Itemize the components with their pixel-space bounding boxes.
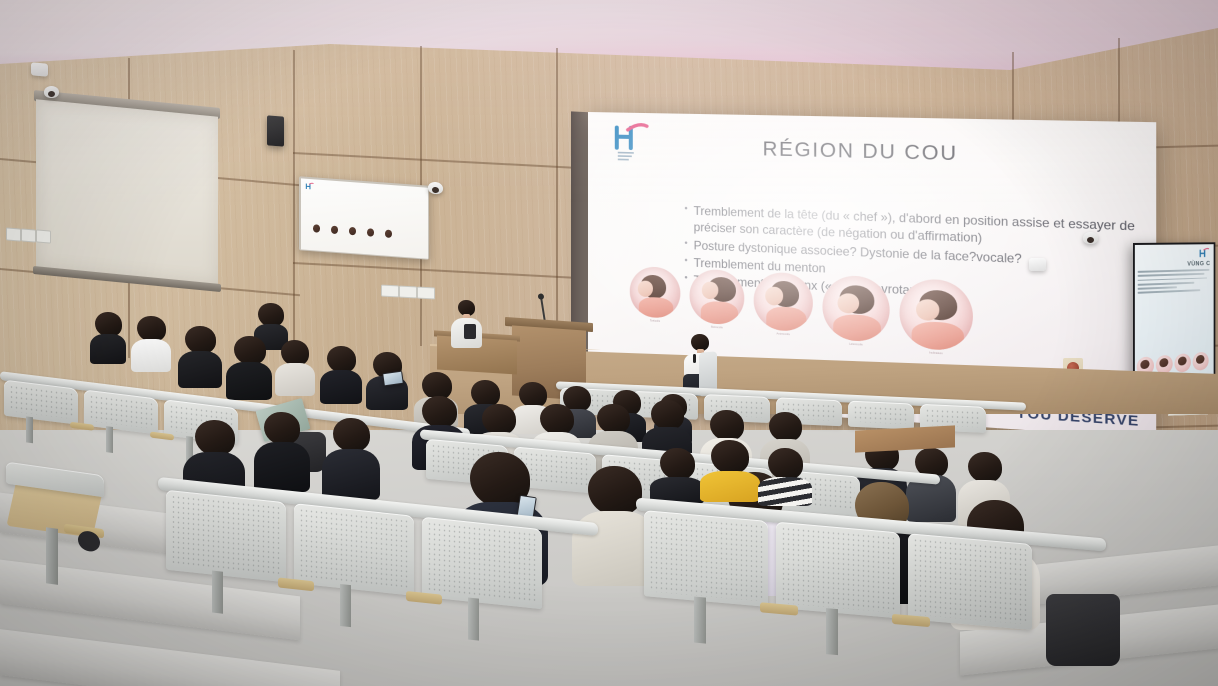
figure-image	[690, 269, 745, 326]
slide-figure: Laterocolis	[822, 274, 889, 348]
audience-member	[178, 326, 222, 388]
slide-figure: Anterocolis	[754, 271, 813, 337]
wall-monitor	[299, 176, 429, 260]
wall-seam	[293, 50, 295, 380]
power-outlet-icon	[417, 287, 435, 300]
lecture-hall-photo: RÉGION DU COU Tremblement de la tête (du…	[0, 0, 1218, 686]
figure-thumb	[366, 228, 375, 241]
cctv-camera-icon	[44, 86, 59, 98]
figure-thumb	[1156, 355, 1173, 375]
audience-member	[275, 340, 315, 396]
figure-thumb	[330, 225, 339, 238]
empty-seat[interactable]	[6, 462, 126, 599]
wall-sensor-icon	[1029, 258, 1046, 271]
audience-member	[700, 440, 760, 502]
audience-member	[322, 418, 380, 500]
cctv-camera-icon	[31, 62, 48, 76]
power-outlet-icon	[21, 228, 36, 242]
audience-member	[226, 336, 272, 400]
figure-thumb	[384, 229, 393, 242]
audience-member	[90, 312, 126, 364]
power-outlet-icon	[6, 227, 21, 241]
side-monitor-title: VÙNG C	[1187, 260, 1210, 267]
smartphone[interactable]	[382, 371, 404, 387]
wall-monitor-figures	[312, 224, 393, 242]
audience-member	[650, 448, 704, 504]
slide-title: RÉGION DU COU	[588, 134, 1156, 172]
power-outlet-icon	[36, 229, 51, 243]
figure-caption: Retrocolis	[690, 325, 745, 331]
slide-figure: Retrocolis	[690, 269, 745, 331]
moderator	[450, 300, 484, 352]
hospital-h-logo	[1199, 247, 1210, 260]
wall-seam	[556, 48, 558, 348]
cctv-camera-icon	[428, 181, 443, 194]
figure-image	[630, 266, 681, 319]
audience-member	[320, 346, 362, 404]
power-outlet-icon	[381, 285, 399, 298]
figure-thumb	[1193, 351, 1209, 371]
slide-figure: Torticolis	[630, 266, 681, 324]
screen-fabric	[36, 99, 218, 285]
handheld-microphone-icon	[693, 354, 696, 363]
figure-image	[900, 278, 973, 352]
figure-thumb	[312, 224, 321, 237]
side-monitor-screen: VÙNG C	[1135, 244, 1214, 383]
wall-speaker-icon	[267, 115, 284, 146]
laptop	[464, 324, 476, 339]
power-outlet-icon	[399, 286, 417, 299]
retractable-projector-screen	[36, 99, 218, 285]
hospital-h-logo	[305, 181, 314, 191]
figure-caption: Anterocolis	[754, 331, 813, 338]
wall-monitor-screen	[301, 178, 428, 258]
figure-image	[822, 274, 889, 342]
side-monitor-text-lines	[1138, 269, 1212, 297]
side-monitor: VÙNG C	[1133, 242, 1215, 385]
audience-member	[758, 448, 812, 506]
audience-member	[131, 316, 171, 372]
audience-member	[254, 412, 310, 492]
figure-thumb	[348, 226, 357, 239]
slide-figure: Inclinaison	[900, 278, 973, 357]
figure-image	[754, 271, 813, 332]
figure-thumb	[1174, 353, 1190, 373]
figure-caption: Torticolis	[630, 318, 681, 324]
cctv-camera-icon	[1083, 232, 1098, 244]
